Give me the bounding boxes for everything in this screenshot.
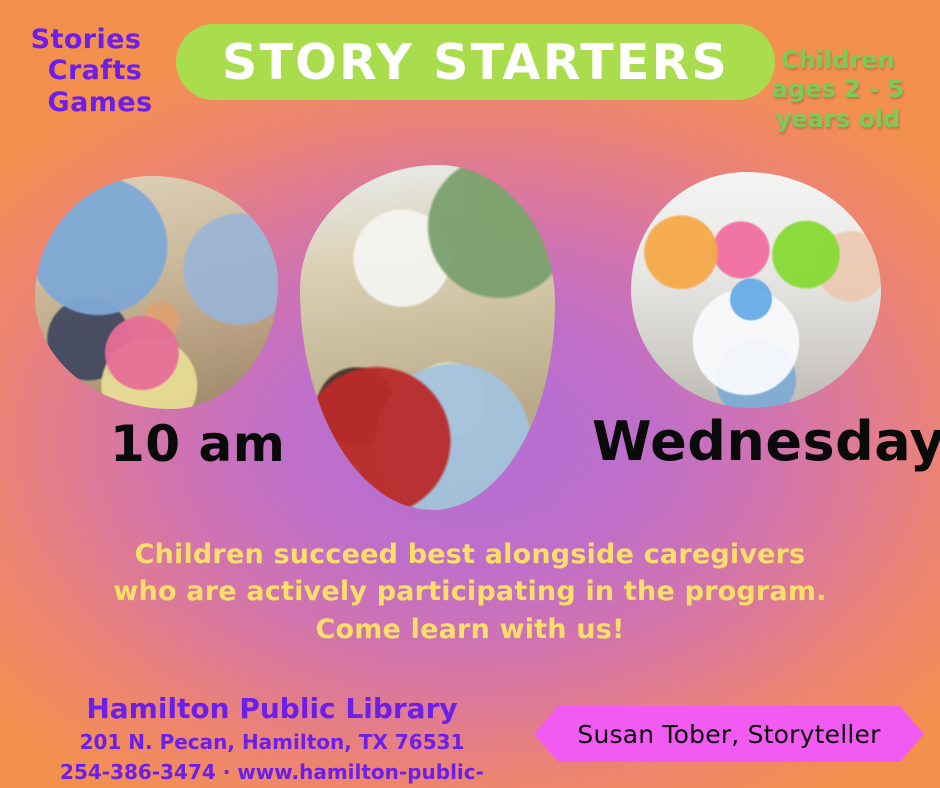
library-address: 201 N. Pecan, Hamilton, TX 76531 bbox=[12, 728, 532, 757]
age-note-line-1: Children bbox=[758, 46, 918, 75]
story-starters-poster: Stories Crafts Games STORY STARTERS Chil… bbox=[0, 0, 940, 788]
event-day: Wednesdays bbox=[592, 410, 940, 473]
message-line-1: Children succeed best alongside caregive… bbox=[0, 536, 940, 573]
library-phone-and-website: 254-386-3474 · www.hamilton-public-libra… bbox=[12, 758, 532, 788]
title-pill: STORY STARTERS bbox=[176, 24, 775, 100]
tagline-block: Stories Crafts Games bbox=[18, 24, 168, 118]
caregiver-message: Children succeed best alongside caregive… bbox=[0, 536, 940, 648]
tagline-line-stories: Stories bbox=[4, 24, 168, 55]
message-line-3: Come learn with us! bbox=[0, 611, 940, 648]
message-line-2: who are actively participating in the pr… bbox=[0, 573, 940, 610]
age-range-note: Children ages 2 - 5 years old bbox=[758, 46, 918, 134]
event-time: 10 am bbox=[110, 415, 285, 473]
library-contact-block: Hamilton Public Library 201 N. Pecan, Ha… bbox=[12, 692, 532, 788]
children-drawing-at-table-photo bbox=[631, 172, 881, 408]
library-name: Hamilton Public Library bbox=[12, 692, 532, 726]
librarian-reading-to-children-photo bbox=[300, 165, 555, 510]
tagline-line-crafts: Crafts bbox=[22, 55, 168, 86]
storyteller-name: Susan Tober, Storyteller bbox=[577, 720, 880, 749]
tagline-line-games: Games bbox=[32, 87, 168, 118]
storyteller-badge: Susan Tober, Storyteller bbox=[534, 706, 924, 762]
toddler-playing-on-floor-photo bbox=[35, 176, 278, 409]
poster-title: STORY STARTERS bbox=[222, 34, 729, 91]
age-note-line-3: years old bbox=[758, 105, 918, 134]
age-note-line-2: ages 2 - 5 bbox=[758, 75, 918, 104]
